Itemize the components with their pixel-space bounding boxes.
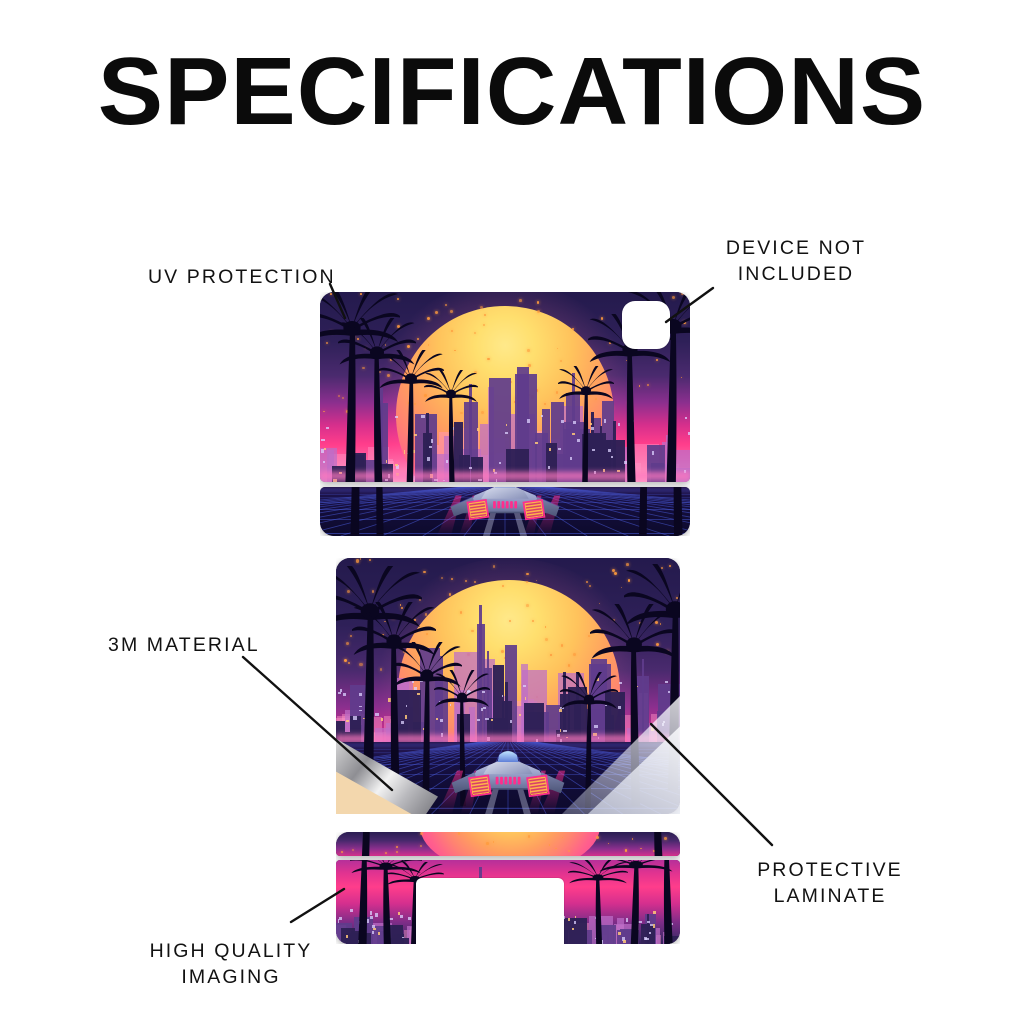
hover-car (420, 487, 590, 536)
star (480, 306, 483, 309)
star (545, 638, 548, 641)
star (526, 581, 528, 583)
star (526, 573, 529, 576)
star (423, 571, 426, 574)
star (589, 585, 591, 587)
star (526, 604, 529, 607)
star (545, 626, 547, 628)
window-light (502, 695, 504, 697)
star (435, 311, 438, 314)
star (493, 565, 496, 568)
star (441, 577, 443, 579)
palm-tree (618, 832, 680, 856)
window-light (541, 415, 543, 417)
skin-tablet-back (320, 292, 690, 536)
palm-tree (626, 860, 680, 944)
star (450, 310, 453, 313)
star (369, 559, 371, 561)
star (596, 836, 599, 839)
star (445, 304, 447, 306)
peel-corner-backing (336, 714, 438, 814)
star (532, 620, 534, 622)
star (483, 324, 485, 326)
star (356, 559, 359, 562)
skin-piece-deck (336, 860, 680, 944)
star (493, 841, 495, 843)
laminate-flap (570, 706, 680, 814)
window-light (535, 442, 538, 444)
star (549, 844, 551, 846)
window-light (549, 448, 551, 451)
star (510, 381, 512, 383)
star (560, 360, 562, 362)
window-light (491, 719, 493, 721)
star (557, 348, 559, 350)
star (528, 835, 531, 838)
star (458, 832, 461, 835)
palm-tree (618, 832, 680, 856)
specifications-page: SPECIFICATIONS (0, 0, 1024, 1024)
skin-laptop-lid (336, 558, 680, 814)
star (614, 572, 617, 575)
star (562, 837, 564, 839)
star (360, 558, 362, 560)
star (486, 842, 489, 845)
callout-high-quality-imaging: HIGH QUALITY IMAGING (118, 938, 344, 991)
skin-piece-upper (320, 292, 690, 482)
palm-tree (626, 860, 680, 944)
star (519, 299, 522, 302)
palm-tree (632, 487, 690, 536)
star (586, 581, 588, 583)
star (502, 585, 504, 587)
window-light (506, 424, 508, 426)
callout-uv-protection: UV PROTECTION (148, 264, 336, 290)
hover-car-svg (420, 487, 590, 536)
star (572, 328, 573, 329)
star (537, 310, 540, 313)
star (427, 317, 430, 320)
star (536, 580, 537, 581)
skin-piece-band (336, 832, 680, 856)
palm-tree (342, 487, 416, 536)
star (449, 593, 451, 595)
palm-tree (424, 370, 478, 482)
palm-tree (632, 487, 690, 536)
star (621, 587, 622, 588)
callout-3m-material: 3M MATERIAL (108, 632, 260, 658)
star (471, 630, 474, 633)
star (537, 301, 540, 304)
window-light (499, 462, 501, 464)
star (454, 350, 456, 352)
star (509, 620, 512, 623)
palm-tree (342, 487, 416, 536)
window-light (505, 432, 508, 434)
window-light (510, 720, 512, 723)
page-title: SPECIFICATIONS (0, 44, 1024, 140)
star (561, 644, 563, 646)
star (487, 358, 490, 361)
palm-tree (336, 832, 404, 856)
star (474, 581, 477, 584)
palm-tree (336, 832, 404, 856)
star (608, 843, 610, 845)
window-light (527, 419, 530, 423)
star (527, 349, 530, 352)
star (528, 364, 531, 367)
star (460, 611, 462, 613)
star (420, 845, 422, 847)
star (417, 338, 419, 340)
star (428, 344, 430, 346)
callout-protective-laminate: PROTECTIVE LAMINATE (730, 857, 930, 910)
skin-keyboard-deck (336, 832, 680, 944)
callout-device-not-included: DEVICE NOT INCLUDED (700, 235, 892, 288)
star (451, 578, 454, 581)
star (451, 330, 453, 332)
window-light (519, 714, 521, 716)
camera-cutout (622, 301, 670, 349)
star (484, 314, 487, 317)
palm-tree (424, 370, 478, 482)
trackpad-cutout (416, 878, 564, 944)
star (555, 848, 557, 850)
star (465, 580, 467, 582)
peel-corner-laminate (570, 706, 680, 814)
star (420, 832, 423, 835)
skin-piece-lower (320, 487, 690, 536)
window-light (525, 697, 527, 700)
star (568, 850, 570, 852)
star (474, 332, 476, 334)
window-light (523, 685, 526, 688)
